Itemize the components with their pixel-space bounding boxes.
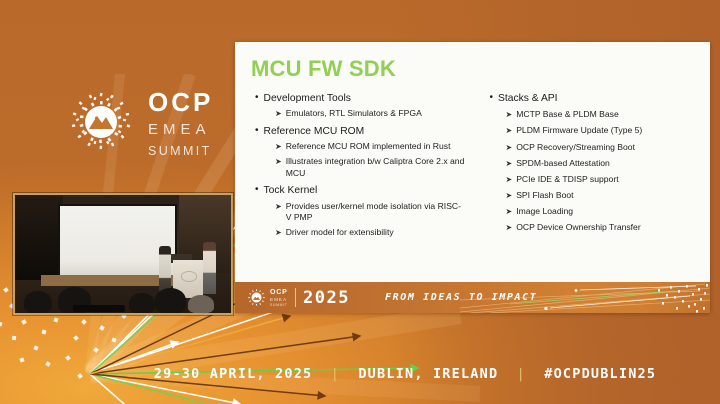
sub-bullet-text: Emulators, RTL Simulators & FPGA <box>286 108 422 120</box>
slide-column-left: • Development Tools ➤ Emulators, RTL Sim… <box>249 92 466 243</box>
bullet-heading: • Reference MCU ROM <box>255 125 466 138</box>
sub-bullet-arrow-icon: ➤ <box>506 206 513 218</box>
brand-logo: OCP EMEA SUMMIT <box>64 72 224 172</box>
sub-bullet-text: MCTP Base & PLDM Base <box>516 109 619 121</box>
bullet-dot-icon: • <box>255 184 259 197</box>
sub-bullet: ➤ Provides user/kernel mode isolation vi… <box>275 201 466 224</box>
conference-room-video[interactable] <box>13 193 233 315</box>
sub-bullet-text: Reference MCU ROM implemented in Rust <box>286 141 451 153</box>
slide-columns: • Development Tools ➤ Emulators, RTL Sim… <box>249 92 700 243</box>
sub-bullet: ➤ PLDM Firmware Update (Type 5) <box>506 125 701 137</box>
presentation-slide: MCU FW SDK • Development Tools ➤ Emulato… <box>235 42 710 313</box>
sub-bullet-text: OCP Recovery/Streaming Boot <box>516 142 635 154</box>
bullet-heading-text: Stacks & API <box>498 92 558 105</box>
sub-bullet-text: Illustrates integration b/w Caliptra Cor… <box>286 156 466 179</box>
sub-bullet-arrow-icon: ➤ <box>275 227 282 239</box>
sub-bullet: ➤ PCIe IDE & TDISP support <box>506 174 701 186</box>
sub-bullet-text: SPDM-based Attestation <box>516 158 610 170</box>
bullet-heading-text: Development Tools <box>264 92 351 105</box>
sub-bullet-text: Driver model for extensibility <box>286 227 394 239</box>
sub-bullet-arrow-icon: ➤ <box>275 108 282 120</box>
sub-bullet-arrow-icon: ➤ <box>275 156 282 168</box>
slide-footer-logo-ocp: OCP <box>270 289 288 296</box>
logo-text-summit: SUMMIT <box>148 145 213 158</box>
sub-bullet-text: Image Loading <box>516 206 573 218</box>
sub-bullet-text: Provides user/kernel mode isolation via … <box>286 201 466 224</box>
sunburst-mountain-icon <box>64 85 138 159</box>
sub-bullet-arrow-icon: ➤ <box>506 158 513 170</box>
bullet-heading: • Tock Kernel <box>255 184 466 197</box>
slide-footer-logo-emea: EMEA <box>270 298 288 303</box>
sub-bullet-arrow-icon: ➤ <box>506 222 513 234</box>
sub-bullet-text: PLDM Firmware Update (Type 5) <box>516 125 642 137</box>
sub-bullet: ➤ SPDM-based Attestation <box>506 158 701 170</box>
event-dates: 29-30 APRIL, 2025 <box>154 366 313 382</box>
bullet-dot-icon: • <box>490 92 494 105</box>
slide-frame: OCP EMEA SUMMIT MCU FW SDK <box>0 0 720 404</box>
slide-column-right: • Stacks & API ➤ MCTP Base & PLDM Base ➤… <box>474 92 701 243</box>
sub-bullet: ➤ OCP Recovery/Streaming Boot <box>506 142 701 154</box>
sub-bullet: ➤ Emulators, RTL Simulators & FPGA <box>275 108 466 120</box>
sub-bullet-arrow-icon: ➤ <box>506 125 513 137</box>
event-info-bar: 29-30 APRIL, 2025 | DUBLIN, IRELAND | #O… <box>0 330 720 404</box>
sub-bullet: ➤ Driver model for extensibility <box>275 227 466 239</box>
event-location: DUBLIN, IRELAND <box>358 366 498 382</box>
sub-bullet-arrow-icon: ➤ <box>275 141 282 153</box>
slide-footer-logo-icon <box>246 287 267 308</box>
bullet-dot-icon: • <box>255 92 259 105</box>
sub-bullet: ➤ Illustrates integration b/w Caliptra C… <box>275 156 466 179</box>
slide-footer-tagline: FROM IDEAS TO IMPACT <box>385 292 537 303</box>
slide-footer-year: 2025 <box>303 288 350 308</box>
sub-bullet-arrow-icon: ➤ <box>506 190 513 202</box>
video-wall-left <box>15 195 63 280</box>
sub-bullet-text: PCIe IDE & TDISP support <box>516 174 618 186</box>
bullet-group: • Reference MCU ROM ➤ Reference MCU ROM … <box>249 125 466 179</box>
event-separator: | <box>331 366 340 382</box>
bullet-heading-text: Reference MCU ROM <box>264 125 365 138</box>
event-hashtag: #OCPDUBLIN25 <box>544 366 656 382</box>
slide-footer-logo-summit: SUMMIT <box>270 304 288 307</box>
video-audience <box>15 278 231 313</box>
sub-bullet: ➤ Image Loading <box>506 206 701 218</box>
bullet-group: • Stacks & API ➤ MCTP Base & PLDM Base ➤… <box>484 92 701 234</box>
sub-bullet-text: SPI Flash Boot <box>516 190 573 202</box>
bullet-heading: • Stacks & API <box>490 92 701 105</box>
bullet-group: • Development Tools ➤ Emulators, RTL Sim… <box>249 92 466 120</box>
slide-title: MCU FW SDK <box>251 56 396 82</box>
bullet-dot-icon: • <box>255 125 259 138</box>
sub-bullet-arrow-icon: ➤ <box>506 109 513 121</box>
sub-bullet: ➤ OCP Device Ownership Transfer <box>506 222 701 234</box>
logo-text-emea: EMEA <box>148 122 213 137</box>
slide-footer: OCP EMEA SUMMIT 2025 FROM IDEAS TO IMPAC… <box>235 282 710 313</box>
logo-text-ocp: OCP <box>148 89 213 115</box>
sub-bullet: ➤ MCTP Base & PLDM Base <box>506 109 701 121</box>
bullet-heading-text: Tock Kernel <box>264 184 318 197</box>
slide-footer-logo-text: OCP EMEA SUMMIT <box>270 289 288 307</box>
slide-footer-divider <box>295 288 296 307</box>
event-info-text: 29-30 APRIL, 2025 | DUBLIN, IRELAND | #O… <box>0 366 720 382</box>
sub-bullet-arrow-icon: ➤ <box>506 174 513 186</box>
event-separator: | <box>517 366 526 382</box>
sub-bullet: ➤ SPI Flash Boot <box>506 190 701 202</box>
bullet-heading: • Development Tools <box>255 92 466 105</box>
sub-bullet-text: OCP Device Ownership Transfer <box>516 222 641 234</box>
sub-bullet: ➤ Reference MCU ROM implemented in Rust <box>275 141 466 153</box>
sub-bullet-arrow-icon: ➤ <box>275 201 282 213</box>
sub-bullet-arrow-icon: ➤ <box>506 142 513 154</box>
bullet-group: • Tock Kernel ➤ Provides user/kernel mod… <box>249 184 466 238</box>
